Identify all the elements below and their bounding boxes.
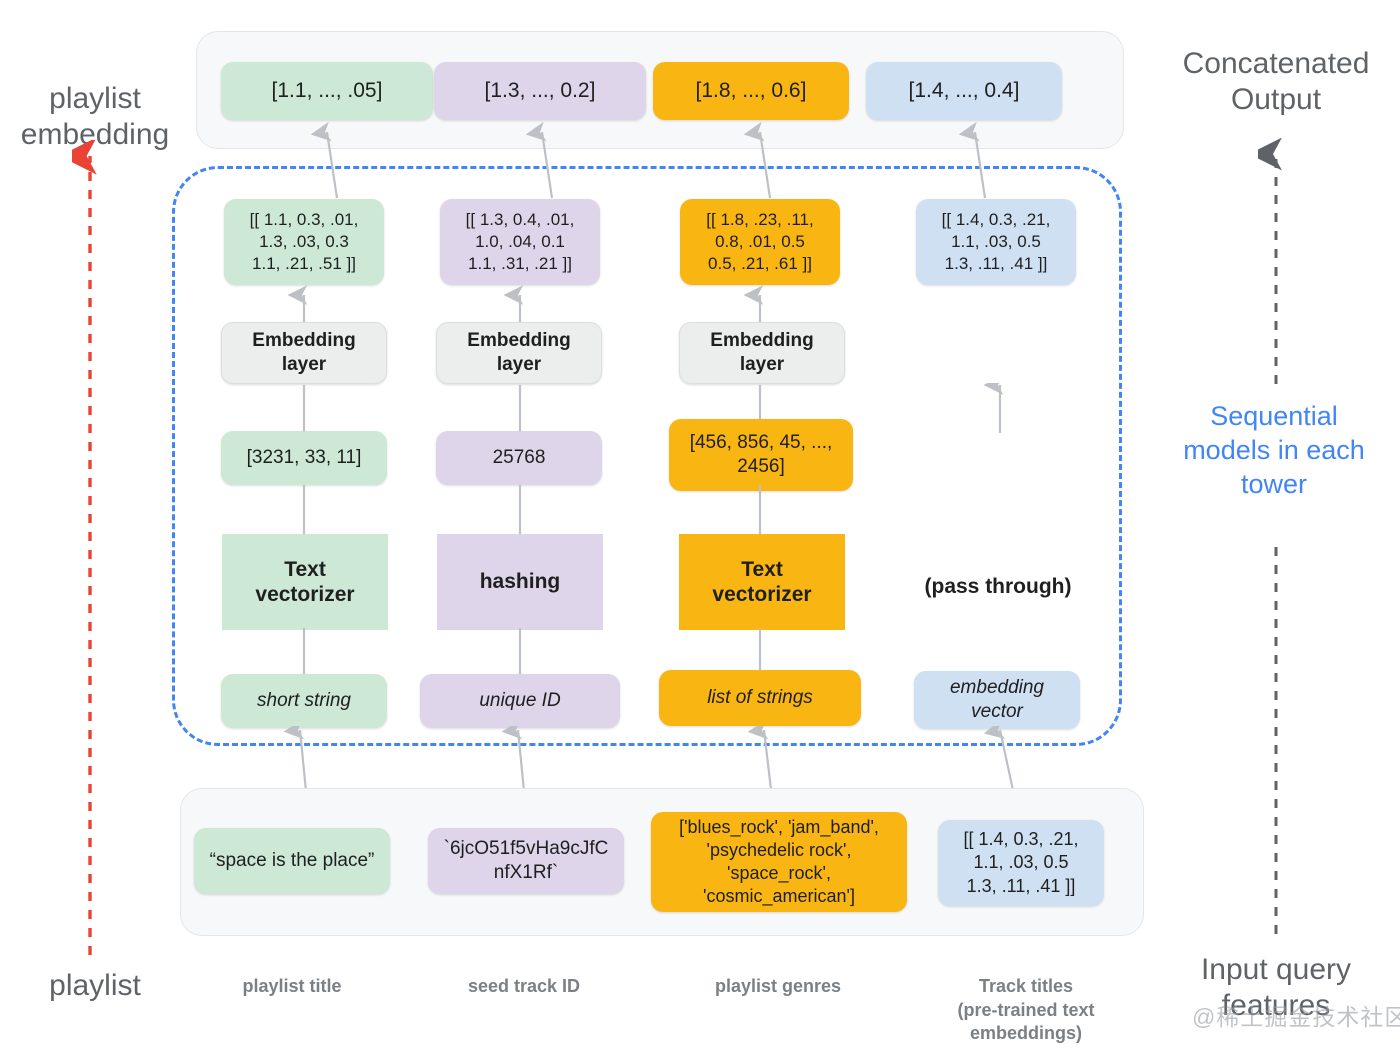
token-ids-text: 25768 [444, 446, 594, 470]
output-embedding-text: [1.4, ..., 0.4] [874, 78, 1054, 105]
token-ids-playlist-genres: [456, 856, 45, ..., 2456] [669, 419, 853, 491]
column-label-text: seed track ID [468, 976, 580, 996]
embedding-layer-label: Embedding layer [445, 329, 593, 378]
diagram-canvas: [1.1, ..., .05] [1.3, ..., 0.2] [1.8, ..… [0, 0, 1400, 1048]
sequence-vector-text: [[ 1.1, 0.3, .01, 1.3, .03, 0.3 1.1, .21… [232, 209, 376, 274]
token-ids-text: [456, 856, 45, ..., 2456] [677, 431, 845, 480]
raw-input-seed-track-id: `6jcO51f5vHa9cJfC nfX1Rf` [428, 828, 624, 894]
right-label-line1: Concatenated [1152, 46, 1400, 82]
transform-label: hashing [474, 569, 567, 594]
input-to-output-flow-arrow-upper [1258, 138, 1298, 388]
column-label-text: Track titles (pre-trained text embedding… [957, 976, 1094, 1043]
output-embedding-playlist-genres: [1.8, ..., 0.6] [653, 62, 849, 120]
dtype-text: unique ID [428, 689, 612, 713]
output-embedding-track-titles: [1.4, ..., 0.4] [866, 62, 1062, 120]
right-label-line2: Output [1152, 82, 1400, 118]
sequence-vector-text: [[ 1.3, 0.4, .01, 1.0, .04, 0.1 1.1, .31… [448, 209, 592, 274]
embedding-layer-label: Embedding layer [688, 329, 836, 378]
raw-input-playlist-title: “space is the place” [194, 828, 390, 894]
dtype-seed-track-id: unique ID [420, 674, 620, 728]
output-embedding-playlist-title: [1.1, ..., .05] [221, 62, 433, 120]
sequential-models-line1: Sequential [1148, 400, 1400, 434]
dtype-text: short string [229, 689, 379, 713]
dtype-text: list of strings [667, 686, 853, 710]
column-label-text: playlist genres [715, 976, 841, 996]
embedding-layer-seed-track-id: Embedding layer [436, 322, 602, 384]
sequence-vector-seed-track-id: [[ 1.3, 0.4, .01, 1.0, .04, 0.1 1.1, .31… [440, 199, 600, 285]
embedding-layer-playlist-genres: Embedding layer [679, 322, 845, 384]
sequence-vector-track-titles: [[ 1.4, 0.3, .21, 1.1, .03, 0.5 1.3, .11… [916, 199, 1076, 285]
transform-text-vectorizer-playlist-genres: Text vectorizer [679, 534, 845, 630]
raw-input-playlist-genres: ['blues_rock', 'jam_band', 'psychedelic … [651, 812, 907, 912]
embedding-layer-playlist-title: Embedding layer [221, 322, 387, 384]
input-query-line1: Input query [1152, 952, 1400, 988]
sequence-vector-playlist-title: [[ 1.1, 0.3, .01, 1.3, .03, 0.3 1.1, .21… [224, 199, 384, 285]
token-ids-playlist-title: [3231, 33, 11] [221, 431, 387, 485]
transform-text-vectorizer-playlist-title: Text vectorizer [222, 534, 388, 630]
raw-input-text: [[ 1.4, 0.3, .21, 1.1, .03, 0.5 1.3, .11… [946, 828, 1096, 897]
column-label-playlist-title: playlist title [192, 975, 392, 998]
sequence-vector-text: [[ 1.8, .23, .11, 0.8, .01, 0.5 0.5, .21… [688, 209, 832, 274]
watermark: @稀土掘金技术社区 [1192, 998, 1400, 1032]
playlist-embedding-flow-arrow [72, 140, 112, 960]
connector-arrows-to-output [180, 120, 1180, 200]
transform-hashing-seed-track-id: hashing [437, 534, 603, 630]
column-label-playlist-genres: playlist genres [678, 975, 878, 998]
right-label-concatenated-output: Concatenated Output [1152, 46, 1400, 118]
raw-input-text: `6jcO51f5vHa9cJfC nfX1Rf` [436, 837, 616, 886]
transform-label: Text vectorizer [706, 557, 817, 607]
dtype-text: embedding vector [922, 676, 1072, 725]
token-ids-seed-track-id: 25768 [436, 431, 602, 485]
output-embedding-text: [1.1, ..., .05] [229, 78, 425, 105]
input-to-output-flow-arrow-lower [1258, 540, 1298, 940]
sequence-vector-text: [[ 1.4, 0.3, .21, 1.1, .03, 0.5 1.3, .11… [924, 209, 1068, 274]
dtype-playlist-title: short string [221, 674, 387, 728]
output-embedding-text: [1.8, ..., 0.6] [661, 78, 841, 105]
embedding-layer-label: Embedding layer [230, 329, 378, 378]
output-embedding-text: [1.3, ..., 0.2] [442, 78, 638, 105]
transform-label: Text vectorizer [249, 557, 360, 607]
sequence-vector-playlist-genres: [[ 1.8, .23, .11, 0.8, .01, 0.5 0.5, .21… [680, 199, 840, 285]
transform-pass-through-track-titles: (pass through) [900, 570, 1096, 604]
raw-input-text: “space is the place” [202, 849, 382, 873]
column-label-text: playlist title [242, 976, 341, 996]
dtype-track-titles: embedding vector [914, 671, 1080, 729]
sequential-models-line3: tower [1148, 468, 1400, 502]
token-ids-text: [3231, 33, 11] [229, 446, 379, 470]
raw-input-track-titles: [[ 1.4, 0.3, .21, 1.1, .03, 0.5 1.3, .11… [938, 820, 1104, 906]
left-label-playlist-embedding: playlist embedding [0, 46, 190, 152]
column-label-seed-track-id: seed track ID [424, 975, 624, 998]
right-label-sequential-models: Sequential models in each tower [1148, 400, 1400, 501]
sequential-models-line2: models in each [1148, 434, 1400, 468]
output-embedding-seed-track-id: [1.3, ..., 0.2] [434, 62, 646, 120]
raw-input-text: ['blues_rock', 'jam_band', 'psychedelic … [659, 816, 899, 908]
left-label-playlist: playlist [0, 968, 190, 1003]
transform-label: (pass through) [925, 575, 1072, 599]
left-label-text: playlist [49, 969, 141, 1002]
dtype-playlist-genres: list of strings [659, 670, 861, 726]
column-label-track-titles: Track titles (pre-trained text embedding… [921, 952, 1131, 1046]
watermark-text: @稀土掘金技术社区 [1192, 1004, 1400, 1030]
